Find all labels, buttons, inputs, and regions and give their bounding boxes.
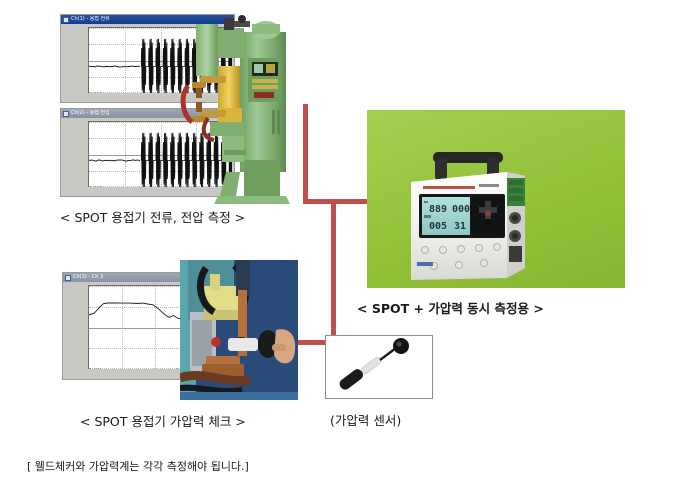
photo-electrode-force-check <box>180 260 298 400</box>
lcd-value-top-right: 000 <box>452 204 470 215</box>
figure-force-check: Ch(3) - Ch 3 550 275 0 -275 -550 0.000 <box>62 272 292 400</box>
waveform-electrode-force <box>89 286 189 369</box>
window-icon <box>63 111 69 117</box>
plot-area-channel-3: 550 275 0 -275 -550 0.000 1.000 <box>88 285 189 369</box>
welding-machine-illustration <box>178 10 296 206</box>
lcd-value-bottom-left: 005 <box>429 221 447 232</box>
scope-title-label: Ch(3) - Ch 3 <box>73 274 103 281</box>
caption-device: < SPOT + 가압력 동시 측정용 > <box>357 298 544 317</box>
slide-canvas: Ch(1) - 용접 전류 20000 10000 0 -10000 -20 <box>0 0 679 496</box>
scope-window-channel-3[interactable]: Ch(3) - Ch 3 550 275 0 -275 -550 0.000 <box>62 272 192 380</box>
scope-title-label: Ch(1) - 용접 전류 <box>71 16 110 23</box>
lcd-value-bottom-right: 31 <box>454 221 466 232</box>
connector-line-vertical-bottom <box>331 199 336 345</box>
caption-current-voltage: < SPOT 용접기 전류, 전압 측정 > <box>60 207 245 226</box>
caption-sensor: (가압력 센서) <box>330 410 401 429</box>
weld-checker-device-illustration: 889 000 005 31 <box>367 110 625 288</box>
force-sensor-illustration <box>326 336 432 398</box>
scope-title-label: Ch(2) - 용접 전압 <box>71 110 110 117</box>
force-check-illustration <box>180 260 298 400</box>
scope-titlebar-channel-3[interactable]: Ch(3) - Ch 3 <box>63 273 191 282</box>
photo-force-sensor <box>325 335 433 399</box>
scope-body-channel-3: 550 275 0 -275 -550 0.000 1.000 <box>63 282 191 379</box>
window-icon <box>63 17 69 23</box>
product-photo-panel: 889 000 005 31 <box>367 110 625 288</box>
photo-spot-welding-machine <box>178 10 296 206</box>
caption-force-check: < SPOT 용접기 가압력 체크 > <box>80 411 246 430</box>
connector-line-vertical-top <box>303 104 308 204</box>
connector-line-horizontal-middle <box>303 199 377 204</box>
lcd-value-top-left: 889 <box>429 204 447 215</box>
footer-note: [ 웰드체커와 가압력계는 각각 측정해야 됩니다.] <box>27 458 249 474</box>
window-icon <box>65 275 71 281</box>
